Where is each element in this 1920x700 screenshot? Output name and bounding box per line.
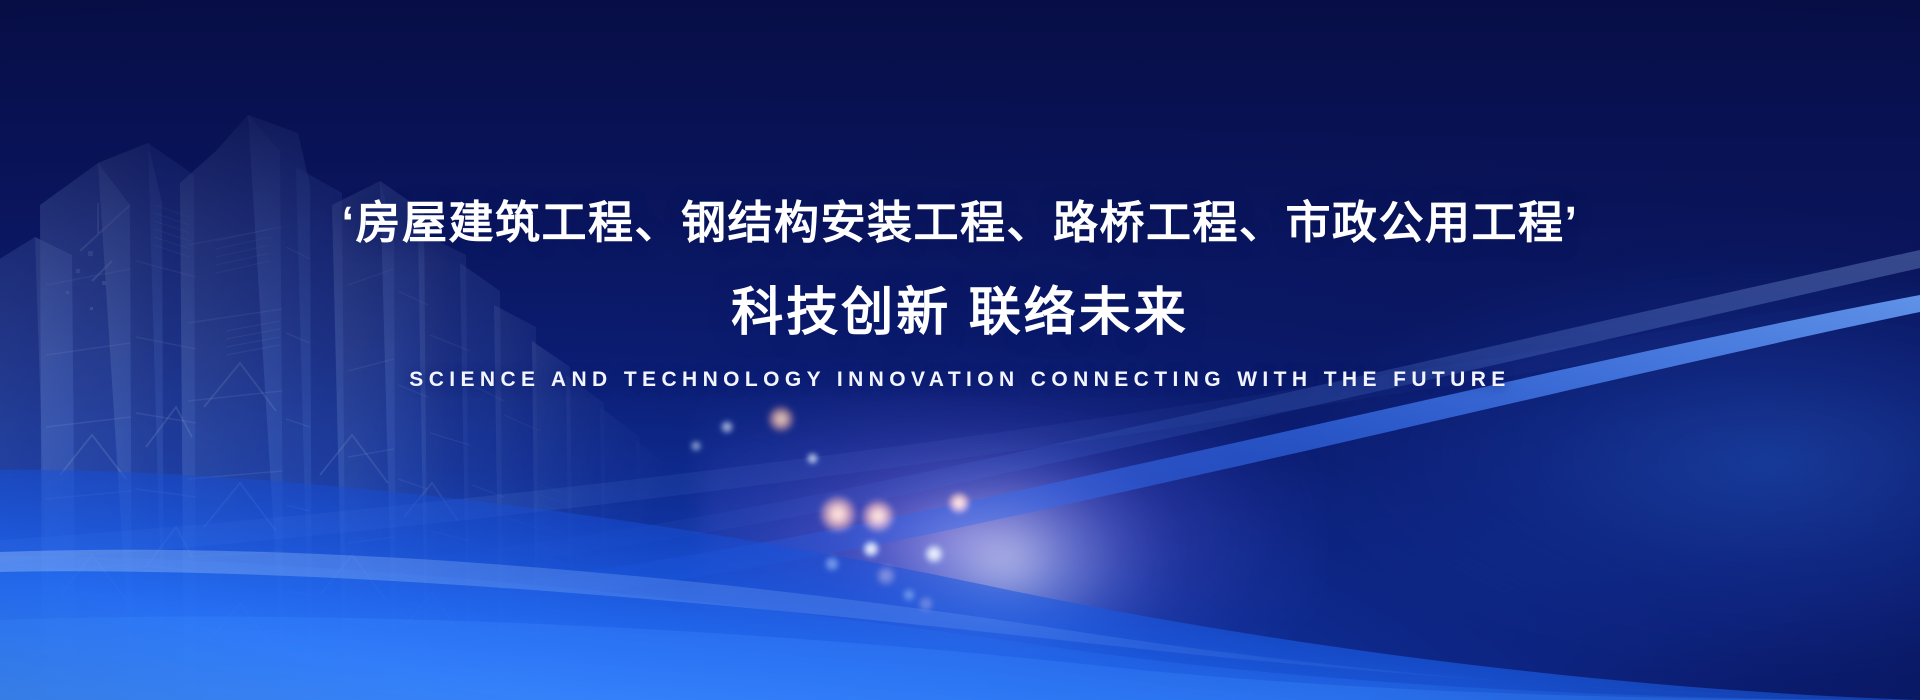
banner-subheading: 科技创新 联络未来 [0, 285, 1920, 342]
hero-banner: ‘房屋建筑工程、钢结构安装工程、路桥工程、市政公用工程’ 科技创新 联络未来 S… [0, 0, 1920, 700]
page-title: ‘房屋建筑工程、钢结构安装工程、路桥工程、市政公用工程’ [0, 196, 1920, 249]
banner-text-block: ‘房屋建筑工程、钢结构安装工程、路桥工程、市政公用工程’ 科技创新 联络未来 S… [0, 196, 1920, 392]
banner-english-tagline: SCIENCE AND TECHNOLOGY INNOVATION CONNEC… [0, 368, 1920, 392]
